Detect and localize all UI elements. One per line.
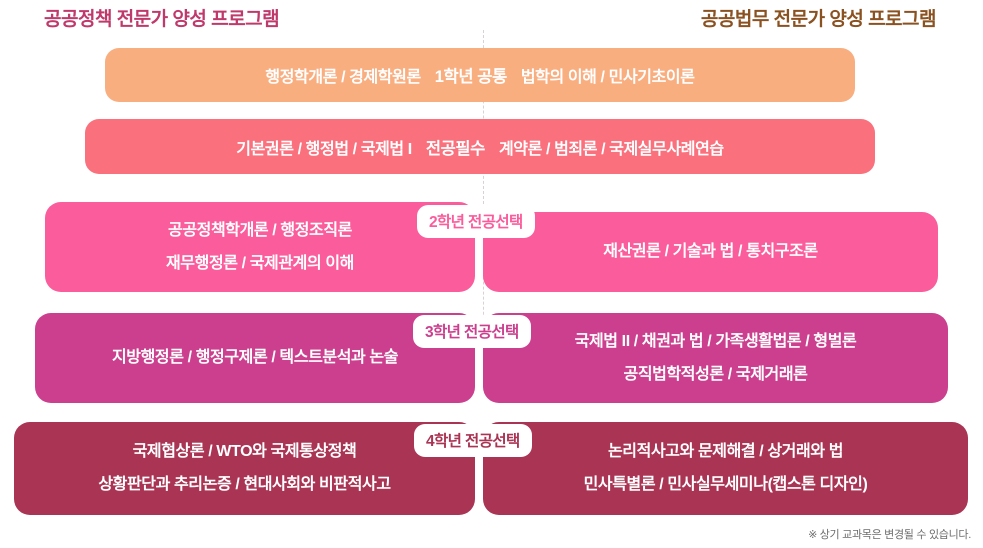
course-line: 국제법 II / 채권과 법 / 가족생활법론 / 형벌론 [575,334,857,350]
course-line: 지방행정론 / 행정구제론 / 텍스트분석과 논술 [112,350,398,366]
course-line: 논리적사고와 문제해결 / 상거래와 법 [608,444,843,460]
course-list-left: 행정학개론 / 경제학원론 [265,63,420,87]
panel-year2-right: 재산권론 / 기술과 법 / 통치구조론 [483,212,938,292]
row-major-required: 기본권론 / 행정법 / 국제법 I 전공필수 계약론 / 범죄론 / 국제실무… [0,119,983,174]
panel-year3-left: 지방행정론 / 행정구제론 / 텍스트분석과 논술 [35,313,475,403]
course-line: 국제협상론 / WTO와 국제통상정책 [133,444,357,460]
bar-major-required: 기본권론 / 행정법 / 국제법 I 전공필수 계약론 / 범죄론 / 국제실무… [85,119,875,174]
course-list-right: 법학의 이해 / 민사기초이론 [521,63,695,87]
row-year2-elective: 공공정책학개론 / 행정조직론 재무행정론 / 국제관계의 이해 재산권론 / … [0,202,983,292]
bar-year1-common: 행정학개론 / 경제학원론 1학년 공통 법학의 이해 / 민사기초이론 [105,48,855,102]
stage-label-center: 전공필수 [426,135,485,159]
course-line: 재산권론 / 기술과 법 / 통치구조론 [603,244,817,260]
footnote-note: ※ 상기 교과목은 변경될 수 있습니다. [808,526,971,542]
course-line: 민사특별론 / 민사실무세미나(캡스톤 디자인) [584,477,868,493]
stage-label-center: 1학년 공통 [435,63,507,87]
panel-year2-left: 공공정책학개론 / 행정조직론 재무행정론 / 국제관계의 이해 [45,202,475,292]
curriculum-roadmap: 공공정책 전문가 양성 프로그램 공공법무 전문가 양성 프로그램 행정학개론 … [0,0,983,548]
panel-year4-right: 논리적사고와 문제해결 / 상거래와 법 민사특별론 / 민사실무세미나(캡스톤… [483,422,968,515]
row-year4-elective: 국제협상론 / WTO와 국제통상정책 상황판단과 추리논증 / 현대사회와 비… [0,422,983,515]
course-list-left: 기본권론 / 행정법 / 국제법 I [236,135,412,159]
stage-badge-year2: 2학년 전공선택 [417,205,535,238]
stage-badge-year4: 4학년 전공선택 [414,424,532,457]
program-title-right: 공공법무 전문가 양성 프로그램 [701,4,936,31]
row-year1-common: 행정학개론 / 경제학원론 1학년 공통 법학의 이해 / 민사기초이론 [0,48,983,102]
program-titles: 공공정책 전문가 양성 프로그램 공공법무 전문가 양성 프로그램 [0,4,983,34]
course-line: 상황판단과 추리논증 / 현대사회와 비판적사고 [98,477,390,493]
course-line: 공직법학적성론 / 국제거래론 [624,367,808,383]
panel-year4-left: 국제협상론 / WTO와 국제통상정책 상황판단과 추리논증 / 현대사회와 비… [14,422,475,515]
panel-year3-right: 국제법 II / 채권과 법 / 가족생활법론 / 형벌론 공직법학적성론 / … [483,313,948,403]
course-list-right: 계약론 / 범죄론 / 국제실무사례연습 [499,135,724,159]
program-title-left: 공공정책 전문가 양성 프로그램 [44,4,279,31]
course-line: 공공정책학개론 / 행정조직론 [168,223,352,239]
course-line: 재무행정론 / 국제관계의 이해 [166,256,354,272]
stage-badge-year3: 3학년 전공선택 [413,315,531,348]
row-year3-elective: 지방행정론 / 행정구제론 / 텍스트분석과 논술 국제법 II / 채권과 법… [0,313,983,403]
